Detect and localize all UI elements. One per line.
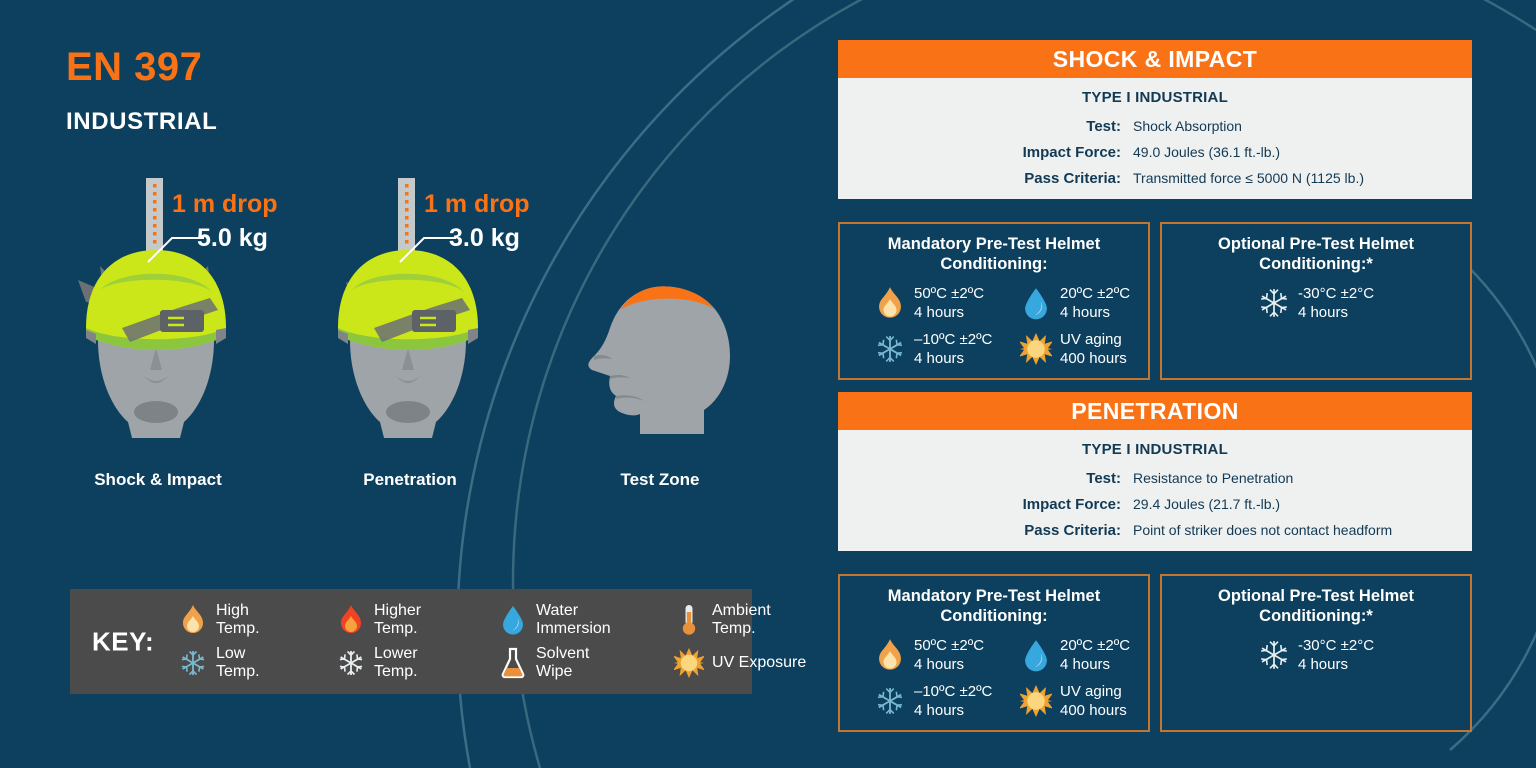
conditioning-item-text: 50ºC ±2ºC4 hours — [914, 284, 984, 322]
snowflake-icon — [874, 682, 906, 720]
conditioning-item-text: 20ºC ±2ºC4 hours — [1060, 636, 1130, 674]
conditioning-item-heat: 50ºC ±2ºC4 hours — [848, 636, 994, 674]
infographic-root: EN 397 INDUSTRIAL — [0, 0, 1536, 768]
key-legend: KEY: HighTemp. — [70, 589, 752, 694]
section-header-shock-impact: SHOCK & IMPACT — [838, 40, 1472, 78]
key-item-solvent-wipe: SolventWipe — [498, 642, 674, 686]
thermometer-icon — [674, 603, 704, 637]
key-item-water-immersion: WaterImmersion — [498, 598, 674, 642]
conditioning-item-text: UV aging400 hours — [1060, 682, 1127, 720]
spec-row: Test: Shock Absorption — [838, 118, 1472, 135]
spec-label: Test: — [838, 118, 1133, 135]
spec-row: Impact Force: 29.4 Joules (21.7 ft.-lb.) — [838, 496, 1472, 513]
key-item-label: HighTemp. — [216, 602, 260, 638]
drop-label-shock: 1 m drop — [172, 190, 278, 219]
left-illustration-pane: EN 397 INDUSTRIAL — [0, 0, 820, 768]
spec-label: Pass Criteria: — [838, 522, 1133, 539]
section-header-penetration: PENETRATION — [838, 392, 1472, 430]
conditioning-item-cold: –10ºC ±2ºC4 hours — [848, 330, 994, 368]
conditioning-item-water: 20ºC ±2ºC4 hours — [994, 284, 1140, 322]
spec-value: Point of striker does not contact headfo… — [1133, 522, 1392, 539]
section-type-label: TYPE I INDUSTRIAL — [838, 441, 1472, 458]
conditioning-item-text: –10ºC ±2ºC4 hours — [914, 682, 992, 720]
conditioning-item-uv: UV aging400 hours — [994, 330, 1140, 368]
sun-icon — [1020, 330, 1052, 368]
spec-label: Impact Force: — [838, 496, 1133, 513]
conditioning-item-text: –10ºC ±2ºC4 hours — [914, 330, 992, 368]
conditioning-item-cold: –10ºC ±2ºC4 hours — [848, 682, 994, 720]
mandatory-conditioning-box-penetration: Mandatory Pre-Test Helmet Conditioning: … — [838, 574, 1150, 732]
key-item-high-temp: HighTemp. — [178, 598, 336, 642]
optional-conditioning-title: Optional Pre-Test Helmet Conditioning:* — [1170, 234, 1462, 274]
snowflake-cold-icon — [336, 646, 366, 680]
figure-test-zone — [578, 258, 758, 443]
section-penetration: PENETRATION TYPE I INDUSTRIAL Test: Resi… — [838, 392, 1472, 551]
conditioning-item-text: UV aging400 hours — [1060, 330, 1127, 368]
conditioning-row-shock-impact: Mandatory Pre-Test Helmet Conditioning: … — [838, 222, 1472, 380]
water-drop-icon — [498, 603, 528, 637]
mass-label-shock: 5.0 kg — [197, 224, 268, 253]
optional-conditioning-box-shock: Optional Pre-Test Helmet Conditioning:* … — [1160, 222, 1472, 380]
conditioning-item-text: 50ºC ±2ºC4 hours — [914, 636, 984, 674]
optional-conditioning-title: Optional Pre-Test Helmet Conditioning:* — [1170, 586, 1462, 626]
flame-icon — [874, 636, 906, 674]
drop-label-penetration: 1 m drop — [424, 190, 530, 219]
section-body-shock-impact: TYPE I INDUSTRIAL Test: Shock Absorption… — [838, 78, 1472, 199]
page-subtitle: INDUSTRIAL — [66, 108, 217, 136]
key-item-label: UV Exposure — [712, 654, 806, 672]
flask-icon — [498, 646, 528, 680]
conditioning-item-uv: UV aging400 hours — [994, 682, 1140, 720]
conditioning-item-deep-cold: -30°C ±2°C4 hours — [1258, 284, 1374, 322]
mandatory-conditioning-title: Mandatory Pre-Test Helmet Conditioning: — [848, 234, 1140, 274]
caption-penetration: Penetration — [312, 470, 508, 490]
caption-shock-impact: Shock & Impact — [60, 470, 256, 490]
conditioning-item-deep-cold: -30°C ±2°C4 hours — [1258, 636, 1374, 674]
spec-label: Pass Criteria: — [838, 170, 1133, 187]
mandatory-conditioning-title: Mandatory Pre-Test Helmet Conditioning: — [848, 586, 1140, 626]
section-body-penetration: TYPE I INDUSTRIAL Test: Resistance to Pe… — [838, 430, 1472, 551]
spec-row: Pass Criteria: Transmitted force ≤ 5000 … — [838, 170, 1472, 187]
section-shock-impact: SHOCK & IMPACT TYPE I INDUSTRIAL Test: S… — [838, 40, 1472, 199]
key-item-label: LowerTemp. — [374, 645, 418, 681]
mandatory-conditioning-box-shock: Mandatory Pre-Test Helmet Conditioning: … — [838, 222, 1150, 380]
conditioning-item-heat: 50ºC ±2ºC4 hours — [848, 284, 994, 322]
spec-row: Test: Resistance to Penetration — [838, 470, 1472, 487]
key-item-label: HigherTemp. — [374, 602, 421, 638]
spec-row: Impact Force: 49.0 Joules (36.1 ft.-lb.) — [838, 144, 1472, 161]
key-item-lower-temp: LowerTemp. — [336, 642, 498, 686]
spec-label: Test: — [838, 470, 1133, 487]
spec-value: 49.0 Joules (36.1 ft.-lb.) — [1133, 144, 1280, 161]
water-drop-icon — [1020, 636, 1052, 674]
key-label: KEY: — [92, 626, 154, 657]
key-item-ambient-temp: AmbientTemp. — [674, 598, 844, 642]
optional-conditioning-box-penetration: Optional Pre-Test Helmet Conditioning:* … — [1160, 574, 1472, 732]
flame-hot-icon — [336, 603, 366, 637]
key-item-label: WaterImmersion — [536, 602, 611, 638]
spec-value: 29.4 Joules (21.7 ft.-lb.) — [1133, 496, 1280, 513]
key-item-label: LowTemp. — [216, 645, 260, 681]
key-item-higher-temp: HigherTemp. — [336, 598, 498, 642]
water-drop-icon — [1020, 284, 1052, 322]
key-item-label: AmbientTemp. — [712, 602, 771, 638]
snowflake-icon — [874, 330, 906, 368]
spec-label: Impact Force: — [838, 144, 1133, 161]
conditioning-item-text: -30°C ±2°C4 hours — [1298, 636, 1374, 674]
mass-label-penetration: 3.0 kg — [449, 224, 520, 253]
snowflake-icon — [178, 646, 208, 680]
conditioning-item-text: -30°C ±2°C4 hours — [1298, 284, 1374, 322]
flame-icon — [874, 284, 906, 322]
spec-value: Shock Absorption — [1133, 118, 1242, 135]
key-item-label: SolventWipe — [536, 645, 589, 681]
sun-icon — [1020, 682, 1052, 720]
spec-value: Transmitted force ≤ 5000 N (1125 lb.) — [1133, 170, 1364, 187]
page-title-standard: EN 397 — [66, 45, 202, 90]
conditioning-item-water: 20ºC ±2ºC4 hours — [994, 636, 1140, 674]
key-item-uv-exposure: UV Exposure — [674, 642, 844, 686]
conditioning-item-text: 20ºC ±2ºC4 hours — [1060, 284, 1130, 322]
caption-test-zone: Test Zone — [570, 470, 750, 490]
spec-value: Resistance to Penetration — [1133, 470, 1293, 487]
sun-icon — [674, 646, 704, 680]
snowflake-cold-icon — [1258, 636, 1290, 674]
snowflake-cold-icon — [1258, 284, 1290, 322]
conditioning-row-penetration: Mandatory Pre-Test Helmet Conditioning: … — [838, 574, 1472, 732]
flame-icon — [178, 603, 208, 637]
spec-row: Pass Criteria: Point of striker does not… — [838, 522, 1472, 539]
key-item-low-temp: LowTemp. — [178, 642, 336, 686]
section-type-label: TYPE I INDUSTRIAL — [838, 89, 1472, 106]
